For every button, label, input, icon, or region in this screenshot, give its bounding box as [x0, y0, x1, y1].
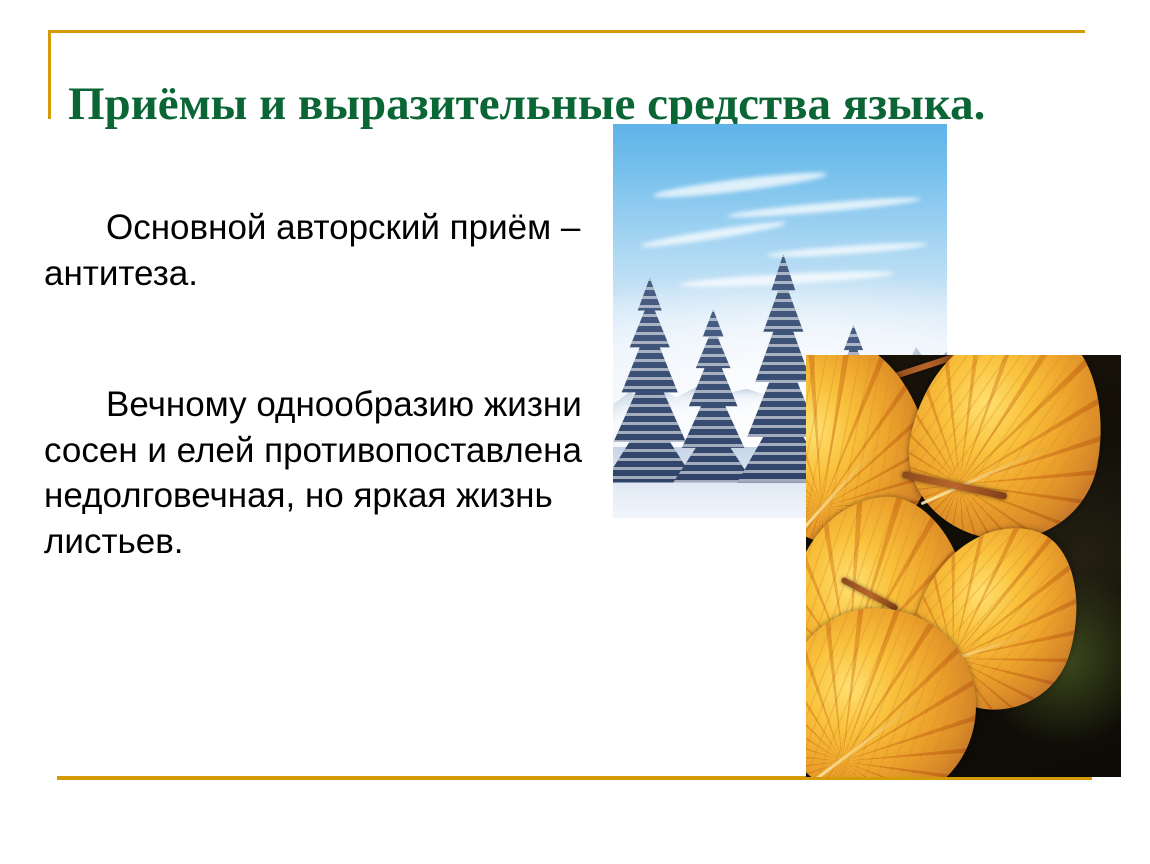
frame-rule-top — [48, 30, 1085, 33]
frame-rule-left — [48, 30, 51, 119]
slide-body: Основной авторский приём – антитеза. Веч… — [44, 205, 644, 564]
cloud-wisp — [767, 241, 927, 260]
body-paragraph-1: Основной авторский приём – антитеза. — [44, 205, 644, 296]
cloud-wisp — [653, 169, 827, 202]
autumn-photo — [806, 355, 1121, 777]
body-paragraph-2: Вечному однообразию жизни сосен и елей п… — [44, 382, 644, 564]
cloud-wisp — [727, 194, 921, 220]
presentation-slide: Приёмы и выразительные средства языка. О… — [0, 0, 1150, 864]
cloud-wisp — [640, 219, 786, 251]
